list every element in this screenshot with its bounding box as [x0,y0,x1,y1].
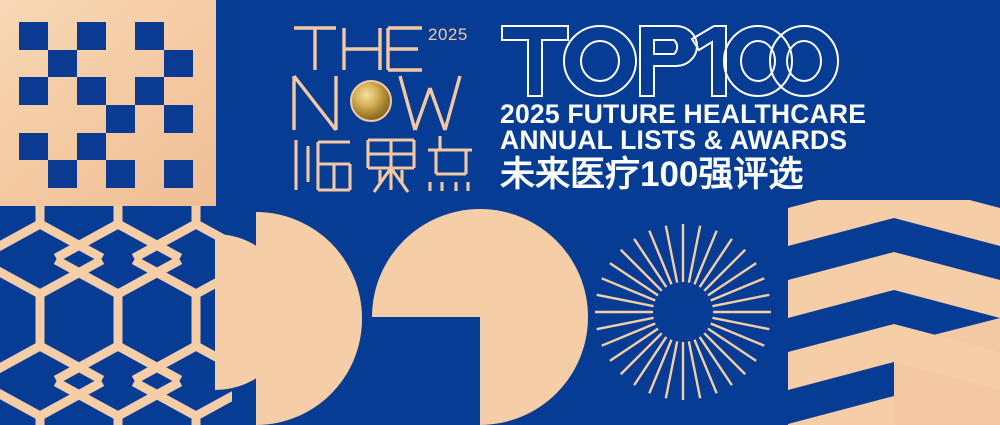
the-now-logo: 2025 [288,18,488,193]
checker-cell-0-2 [77,22,106,50]
headline-english-line-1: 2025 FUTURE HEALTHCARE [500,102,840,127]
checker-cell-2-1 [48,77,77,105]
checker-cell-3-0 [19,105,48,133]
top100-outline-title [500,22,840,100]
checker-cell-3-2 [77,105,106,133]
logo-year: 2025 [428,25,468,44]
checker-cell-1-4 [135,50,164,78]
checker-cell-3-3 [106,105,135,133]
checker-cell-4-4 [135,133,164,161]
checker-cell-2-3 [106,77,135,105]
checker-cell-0-0 [19,22,48,50]
checker-cell-0-3 [106,22,135,50]
top100-award-banner: 2025 202 [0,0,1000,425]
checker-cell-1-5 [164,50,193,78]
checker-cell-2-5 [164,77,193,105]
hexagon-cube-lattice-pattern [0,206,232,425]
checker-cell-3-1 [48,105,77,133]
checker-cell-4-2 [77,133,106,161]
headline-block: 2025 FUTURE HEALTHCARE ANNUAL LISTS & AW… [500,22,840,196]
headline-chinese: 未来医疗100强评选 [500,154,840,196]
checker-cell-1-0 [19,50,48,78]
checker-cell-1-1 [48,50,77,78]
checker-cell-4-1 [48,133,77,161]
half-disc-large [256,212,362,425]
checker-cell-1-3 [106,50,135,78]
sunburst-rays [593,222,773,402]
headline-english-line-2: ANNUAL LISTS & AWARDS [500,127,840,154]
checker-cell-4-3 [106,133,135,161]
checker-cell-5-2 [77,160,106,188]
checkerboard-panel [0,0,216,206]
checker-cell-5-1 [48,160,77,188]
checker-cell-5-5 [164,160,193,188]
checker-cell-0-5 [164,22,193,50]
checker-cell-2-4 [135,77,164,105]
checker-cell-5-0 [19,160,48,188]
checkerboard-pattern [19,22,193,188]
checker-cell-4-0 [19,133,48,161]
checker-cell-4-5 [164,133,193,161]
notched-circle [372,209,588,425]
notched-circle-cutout [372,317,480,425]
checker-cell-2-0 [19,77,48,105]
gold-sphere-o-letter [350,80,392,122]
checker-cell-2-2 [77,77,106,105]
checker-cell-5-4 [135,160,164,188]
diagonal-stripes-panel [788,200,1000,425]
checker-cell-5-3 [106,160,135,188]
checker-cell-3-4 [135,105,164,133]
checker-cell-1-2 [77,50,106,78]
checker-cell-0-1 [48,22,77,50]
checker-cell-0-4 [135,22,164,50]
checker-cell-3-5 [164,105,193,133]
